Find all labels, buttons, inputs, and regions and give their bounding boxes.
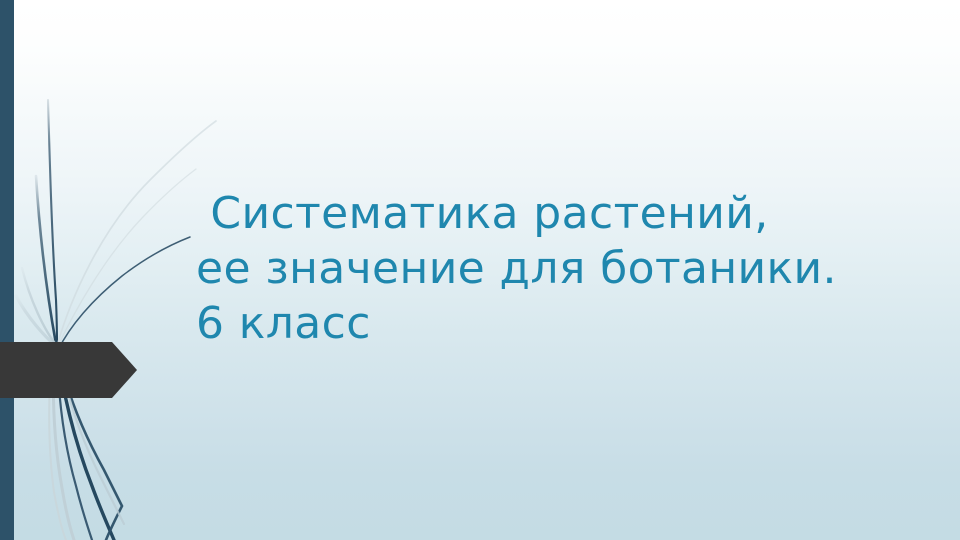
- title-line-2: ее значение для ботаники.: [196, 241, 936, 296]
- title-slide: Систематика растений, ее значение для бо…: [0, 0, 960, 540]
- arrow-banner-shape: [0, 342, 137, 398]
- title-line-3: 6 класс: [196, 296, 936, 351]
- page-title: Систематика растений, ее значение для бо…: [196, 186, 936, 351]
- left-accent-bar: [0, 0, 14, 540]
- title-line-1: Систематика растений,: [196, 186, 936, 241]
